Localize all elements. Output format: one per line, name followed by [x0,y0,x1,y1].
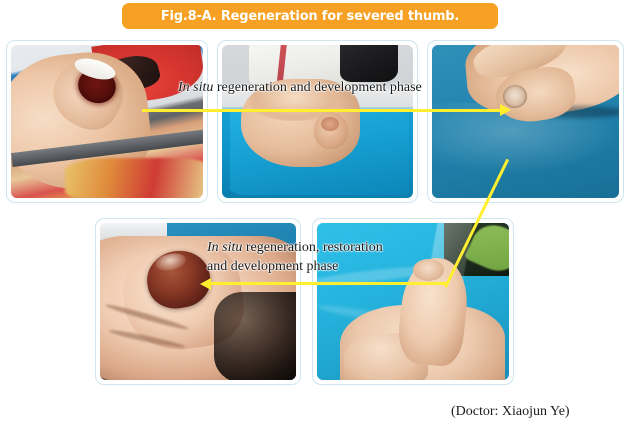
photo-image-1 [11,45,203,198]
annotation-label-top-rest: regeneration and development phase [213,80,421,95]
page-title: Fig.8-A. Regeneration for severed thumb. [161,9,459,24]
figure-title-banner: Fig.8-A. Regeneration for severed thumb. [122,3,498,29]
dark-bag-shape [340,45,397,82]
photo-image-2 [222,45,413,198]
background-items-shape [65,158,203,198]
annotation-label-top: In situ regeneration and development pha… [178,80,422,96]
arrowhead-right-icon [500,104,511,116]
photo-panel-regenerated-thumb-tip [427,40,624,203]
annotation-label-bottom-line1: regeneration, restoration [242,240,382,255]
annotation-label-bottom-line2: and development phase [207,257,383,276]
doctor-credit: (Doctor: Xiaojun Ye) [451,404,570,420]
annotation-label-bottom-italic: In situ [207,240,242,255]
annotation-label-top-italic: In situ [178,80,213,95]
annotation-label-bottom: In situ regeneration, restoration and de… [207,238,383,276]
shadow-region-shape [214,292,296,380]
photo-panel-thumb-stump-healing [217,40,418,203]
arrowhead-left-icon [200,278,211,290]
stump-tip-shape [321,117,338,131]
photo-panel-severed-thumb-initial-wound [6,40,208,203]
photo-image-3 [432,45,619,198]
restored-thumb-tip-shape [413,259,444,281]
